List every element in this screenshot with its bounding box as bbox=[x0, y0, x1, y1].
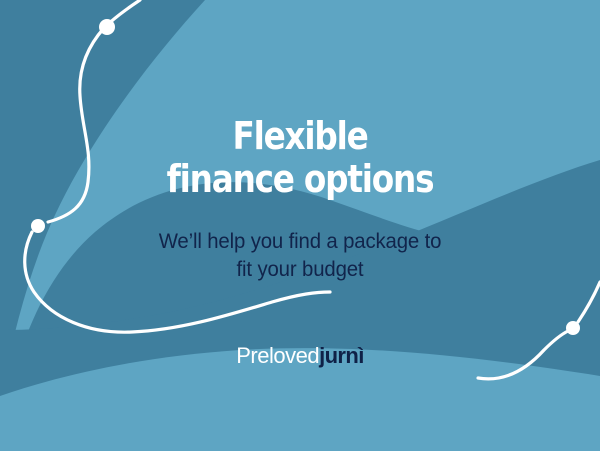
subheadline-line-2: fit your budget bbox=[9, 256, 591, 284]
subheadline: We’ll help you find a package to fit you… bbox=[9, 228, 591, 283]
brand-logo-preloved: Preloved bbox=[236, 343, 319, 368]
brand-logo-jurni: jurnì bbox=[319, 343, 364, 368]
subheadline-line-1: We’ll help you find a package to bbox=[9, 228, 591, 256]
headline-line-2: finance options bbox=[42, 158, 558, 201]
headline: Flexible finance options bbox=[42, 115, 558, 200]
promo-banner: Flexible finance options We’ll help you … bbox=[0, 0, 600, 451]
banner-content: Flexible finance options We’ll help you … bbox=[0, 0, 600, 451]
brand-logo: Prelovedjurnì bbox=[0, 345, 600, 367]
headline-line-1: Flexible bbox=[42, 115, 558, 158]
